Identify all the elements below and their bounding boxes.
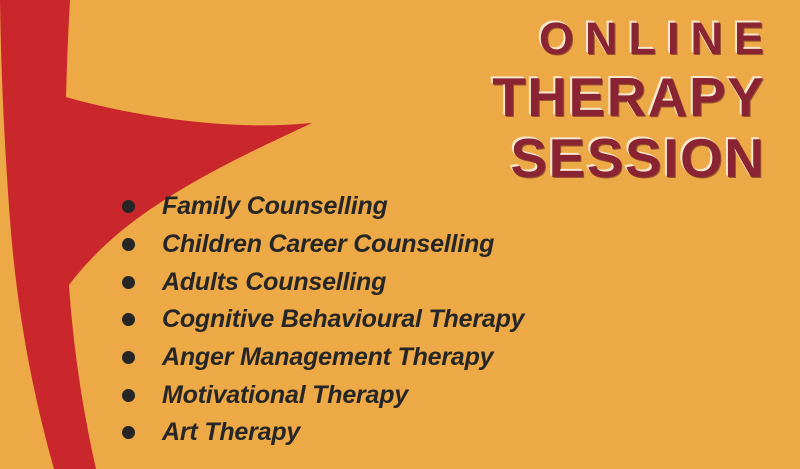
headline-line-therapy: THERAPY xyxy=(492,70,765,125)
headline: ONLINE THERAPY SESSION xyxy=(492,16,764,186)
bullet-icon xyxy=(122,200,135,213)
list-item: Cognitive Behavioural Therapy xyxy=(122,301,524,339)
list-item: Adults Counselling xyxy=(122,263,524,301)
list-item-label: Family Counselling xyxy=(162,192,388,221)
list-item-label: Cognitive Behavioural Therapy xyxy=(162,305,524,334)
headline-line-session: SESSION xyxy=(492,131,765,186)
bullet-icon xyxy=(122,276,135,289)
bullet-icon xyxy=(122,426,135,439)
list-item: Motivational Therapy xyxy=(122,376,524,414)
online-therapy-banner: ONLINE THERAPY SESSION Family Counsellin… xyxy=(0,0,800,469)
list-item: Family Counselling xyxy=(122,188,524,226)
bullet-icon xyxy=(122,389,135,402)
list-item-label: Anger Management Therapy xyxy=(162,343,493,372)
bullet-icon xyxy=(122,238,135,251)
list-item-label: Art Therapy xyxy=(162,418,300,447)
headline-line-online: ONLINE xyxy=(492,16,775,61)
list-item-label: Motivational Therapy xyxy=(162,381,408,410)
list-item: Art Therapy xyxy=(122,414,524,452)
list-item-label: Adults Counselling xyxy=(162,268,386,297)
list-item: Anger Management Therapy xyxy=(122,339,524,377)
bullet-icon xyxy=(122,351,135,364)
list-item-label: Children Career Counselling xyxy=(162,230,494,259)
bullet-icon xyxy=(122,313,135,326)
list-item: Children Career Counselling xyxy=(122,226,524,264)
services-list: Family Counselling Children Career Couns… xyxy=(122,188,524,452)
